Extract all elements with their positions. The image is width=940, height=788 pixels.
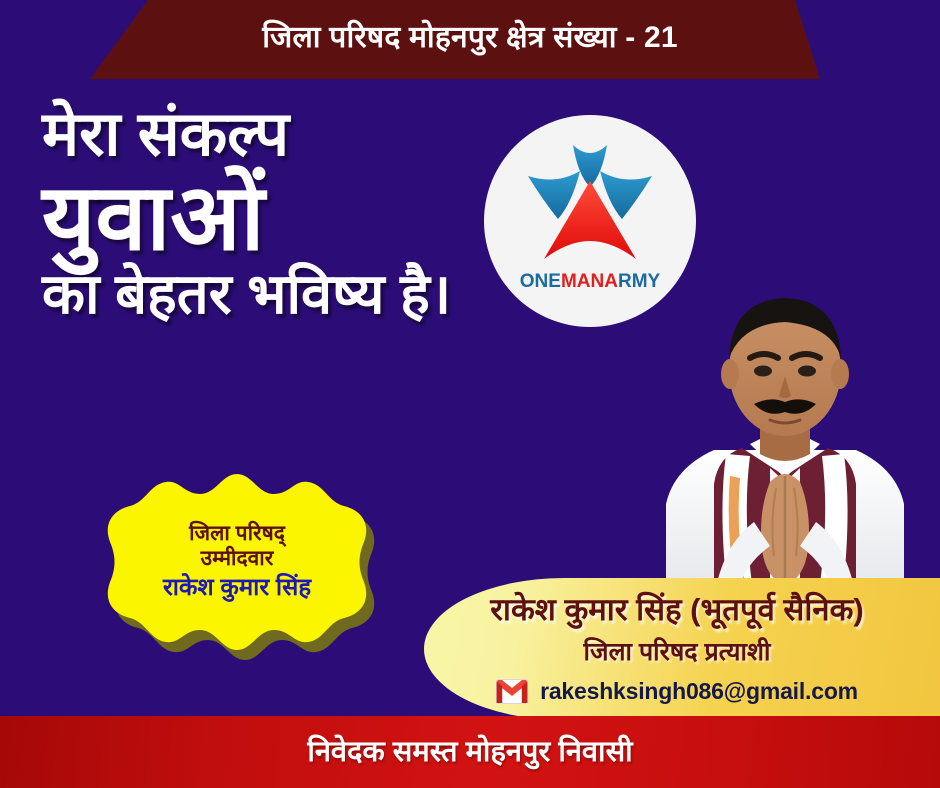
footer-text: निवेदक समस्त मोहनपुर निवासी [307, 731, 632, 773]
candidate-photo [630, 278, 940, 598]
gmail-icon [496, 679, 528, 704]
badge-line-2: उम्मीदवार [201, 547, 274, 571]
email-row: rakeshksingh086@gmail.com [424, 678, 930, 705]
wordmark-man: MAN [561, 271, 604, 292]
wordmark-one: ONE [520, 271, 561, 292]
candidate-badge-text: जिला परिषद् उम्मीदवार राकेश कुमार सिंह [102, 472, 372, 652]
candidate-email[interactable]: rakeshksingh086@gmail.com [540, 678, 858, 705]
constituency-banner: जिला परिषद मोहनपुर क्षेत्र संख्या - 21 [0, 0, 940, 80]
candidate-name: राकेश कुमार सिंह (भूतपूर्व सैनिक) [424, 588, 930, 630]
onemanarmy-wordmark: ONEMANARMY [484, 272, 696, 291]
onemanarmy-star-icon [484, 115, 696, 327]
candidate-nameplate: राकेश कुमार सिंह (भूतपूर्व सैनिक) जिला प… [424, 578, 940, 720]
onemanarmy-logo: ONEMANARMY [484, 115, 696, 327]
candidate-portrait-illustration [630, 278, 940, 598]
campaign-poster: जिला परिषद मोहनपुर क्षेत्र संख्या - 21 म… [0, 0, 940, 788]
wordmark-rmy: RMY [618, 271, 660, 292]
constituency-banner-text: जिला परिषद मोहनपुर क्षेत्र संख्या - 21 [262, 23, 678, 57]
candidate-role: जिला परिषद प्रत्याशी [424, 634, 930, 668]
footer-bar: निवेदक समस्त मोहनपुर निवासी [0, 716, 940, 788]
wordmark-a: A [604, 271, 618, 292]
badge-line-1: जिला परिषद् [189, 522, 285, 546]
badge-line-3: राकेश कुमार सिंह [163, 574, 311, 602]
